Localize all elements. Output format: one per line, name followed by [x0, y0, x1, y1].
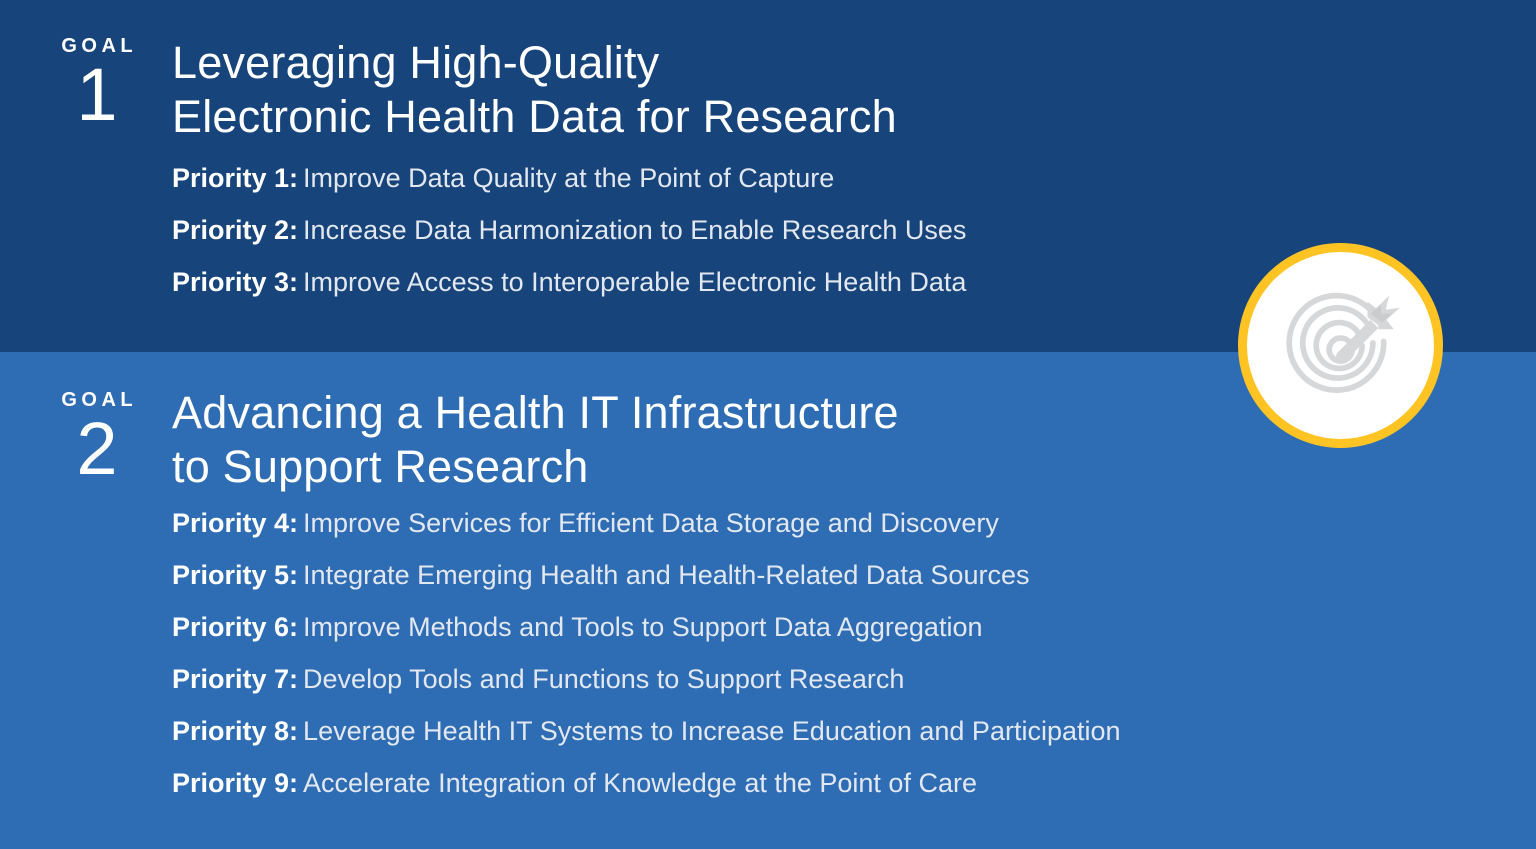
priority-item: Priority 4:Improve Services for Efficien… [172, 510, 1121, 537]
priority-label: Priority 1: [172, 163, 298, 193]
priority-item: Priority 5:Integrate Emerging Health and… [172, 562, 1121, 589]
priority-item: Priority 2:Increase Data Harmonization t… [172, 217, 966, 244]
goal-2-priority-list: Priority 4:Improve Services for Efficien… [172, 510, 1121, 797]
priority-text: Leverage Health IT Systems to Increase E… [303, 716, 1120, 746]
priority-item: Priority 3:Improve Access to Interoperab… [172, 269, 966, 296]
priority-label: Priority 2: [172, 215, 298, 245]
priority-item: Priority 9:Accelerate Integration of Kno… [172, 770, 1121, 797]
priority-text: Improve Data Quality at the Point of Cap… [303, 163, 834, 193]
priority-text: Improve Services for Efficient Data Stor… [303, 508, 999, 538]
priority-text: Improve Access to Interoperable Electron… [303, 267, 966, 297]
priority-item: Priority 1:Improve Data Quality at the P… [172, 165, 966, 192]
priority-text: Integrate Emerging Health and Health-Rel… [303, 560, 1029, 590]
priority-text: Increase Data Harmonization to Enable Re… [303, 215, 966, 245]
goal-2-marker-number: 2 [32, 414, 162, 484]
goals-priorities-slide: GOAL 1 Leveraging High-Quality Electroni… [0, 0, 1536, 849]
priority-label: Priority 4: [172, 508, 298, 538]
priority-text: Develop Tools and Functions to Support R… [303, 664, 904, 694]
goal-2-marker: GOAL 2 [32, 390, 162, 484]
goal-1-marker: GOAL 1 [32, 36, 162, 130]
goal-1-marker-number: 1 [32, 60, 162, 130]
goal-1-priority-list: Priority 1:Improve Data Quality at the P… [172, 165, 966, 296]
priority-label: Priority 9: [172, 768, 298, 798]
goal-2-heading: Advancing a Health IT Infrastructure to … [172, 386, 899, 494]
target-with-dart-icon [1273, 278, 1408, 413]
priority-text: Accelerate Integration of Knowledge at t… [303, 768, 977, 798]
priority-label: Priority 3: [172, 267, 298, 297]
target-badge [1238, 243, 1443, 448]
priority-item: Priority 6:Improve Methods and Tools to … [172, 614, 1121, 641]
priority-item: Priority 8:Leverage Health IT Systems to… [172, 718, 1121, 745]
goal-1-heading: Leveraging High-Quality Electronic Healt… [172, 36, 897, 144]
priority-label: Priority 6: [172, 612, 298, 642]
priority-item: Priority 7:Develop Tools and Functions t… [172, 666, 1121, 693]
priority-label: Priority 8: [172, 716, 298, 746]
priority-text: Improve Methods and Tools to Support Dat… [303, 612, 982, 642]
priority-label: Priority 7: [172, 664, 298, 694]
priority-label: Priority 5: [172, 560, 298, 590]
